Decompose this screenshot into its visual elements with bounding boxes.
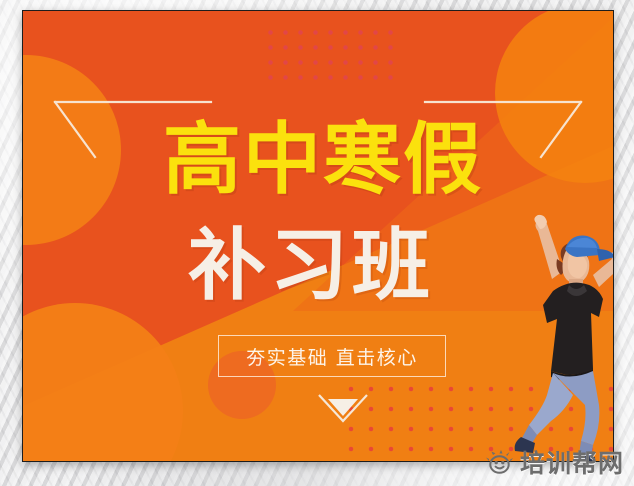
decor-circle-left-top [22, 55, 121, 245]
jumping-student-illustration [507, 209, 614, 462]
dot-grid-top [263, 25, 398, 87]
site-watermark: 培训帮网 [486, 444, 624, 480]
watermark-text: 培训帮网 [520, 444, 624, 480]
down-chevron-icon [315, 391, 371, 433]
subtitle-box: 夯实基础 直击核心 [218, 335, 446, 377]
poster-subtitle: 夯实基础 直击核心 [246, 343, 418, 370]
course-poster: 高中寒假 补习班 夯实基础 直击核心 [22, 10, 614, 462]
decor-circle-left-bottom [22, 303, 183, 462]
smiley-sun-icon [486, 450, 513, 474]
poster-title-line-1: 高中寒假 [133, 119, 513, 201]
poster-title-line-2: 补习班 [161, 225, 461, 307]
screenshot-stage: 高中寒假 补习班 夯实基础 直击核心 [0, 0, 634, 486]
